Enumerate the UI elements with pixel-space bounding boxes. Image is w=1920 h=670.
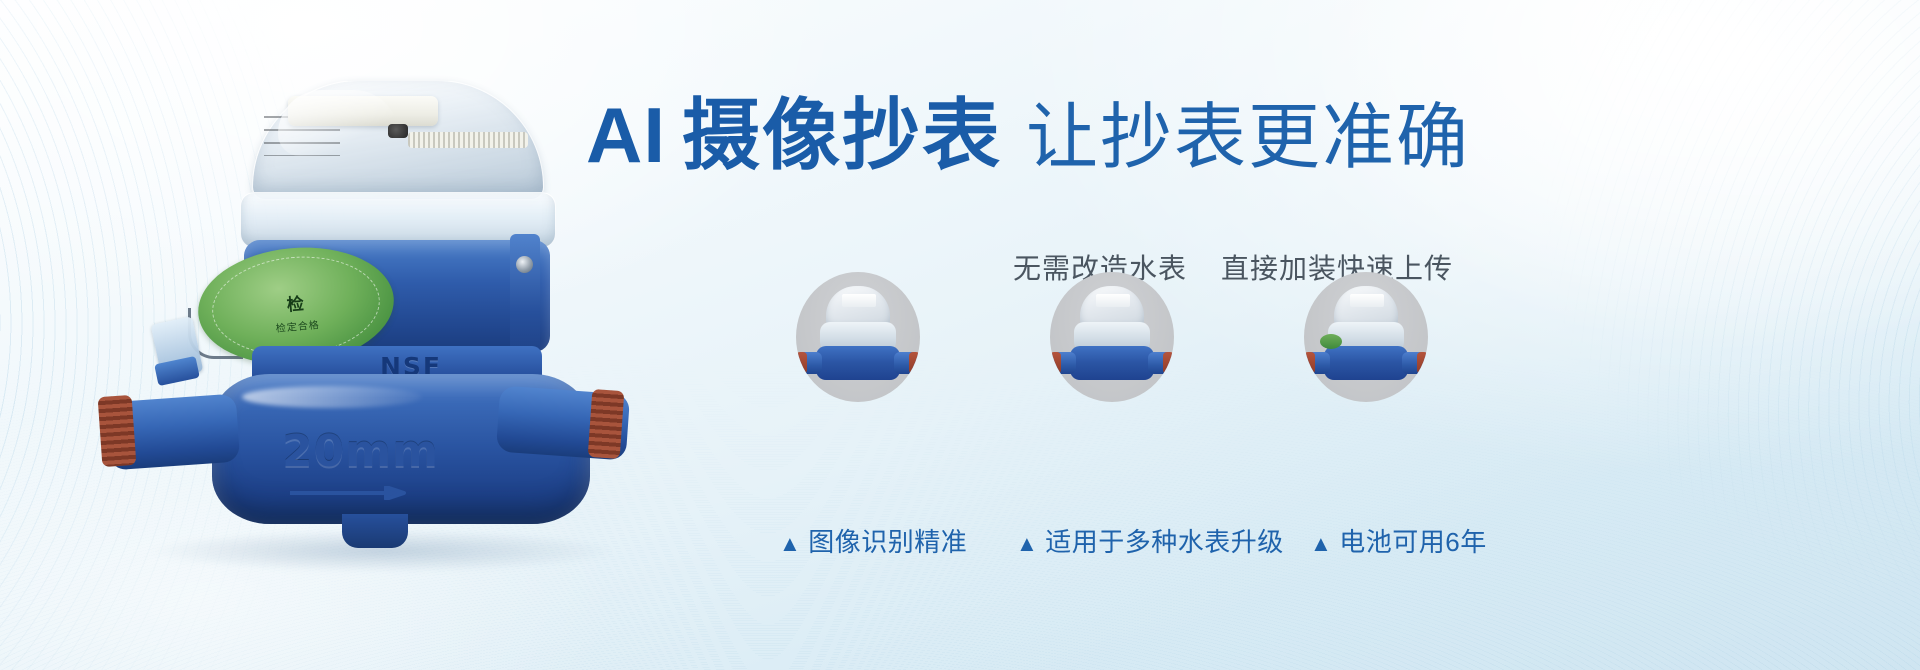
promo-banner: 检 检定合格 NSF 20mm AI摄像抄表让抄表更准确 无需改造水表直接加装快… (0, 0, 1920, 670)
headline-ai: AI (586, 91, 666, 179)
mini-body (1324, 346, 1408, 380)
mini-inlet-cap (1304, 352, 1315, 374)
mini-inlet-cap (1050, 352, 1061, 374)
triangle-marker-icon: ▲ (1016, 531, 1038, 556)
feature-thumbnail-1 (796, 272, 920, 402)
feature-thumbnail-list (772, 272, 1482, 412)
antenna-coil (408, 132, 528, 148)
main-product-image: 检 检定合格 NSF 20mm (92, 74, 612, 594)
product-outlet-thread-cap (588, 389, 625, 459)
feature-caption-2: ▲适用于多种水表升级 (1016, 522, 1284, 559)
product-body-highlight (242, 386, 422, 408)
mini-inlet-cap (796, 352, 807, 374)
mini-outlet-cap (1417, 352, 1428, 374)
feature-caption-1-label: 图像识别精准 (808, 527, 967, 557)
headline-strong: 摄像抄表 (682, 91, 1002, 179)
mini-inspection-sticker (1320, 334, 1342, 349)
mini-body (816, 346, 900, 380)
headline: AI摄像抄表让抄表更准确 (586, 96, 1470, 174)
mini-water-meter-icon (1304, 272, 1428, 402)
flow-direction-arrow-icon (288, 486, 408, 500)
feature-caption-1: ▲图像识别精准 (779, 522, 967, 559)
product-mounting-bracket (510, 234, 540, 364)
headline-light: 让抄表更准确 (1026, 98, 1470, 178)
mini-outlet-cap (1163, 352, 1174, 374)
feature-caption-3: ▲电池可用6年 (1310, 522, 1487, 559)
mini-water-meter-icon (796, 272, 920, 402)
mini-body (1070, 346, 1154, 380)
mini-label (1350, 294, 1384, 307)
product-base-foot (342, 514, 408, 548)
dome-highlight (278, 90, 398, 156)
product-size-mark: 20mm (282, 426, 439, 477)
mini-label (842, 294, 876, 307)
feature-thumbnail-2 (1050, 272, 1174, 402)
feature-thumbnail-3 (1304, 272, 1428, 402)
mini-water-meter-icon (1050, 272, 1174, 402)
mini-label (1096, 294, 1130, 307)
product-inlet-thread-cap (98, 395, 137, 467)
triangle-marker-icon: ▲ (779, 531, 801, 556)
screw-icon (516, 256, 533, 273)
feature-caption-2-label: 适用于多种水表升级 (1045, 527, 1284, 557)
feature-caption-3-label: 电池可用6年 (1339, 527, 1486, 557)
triangle-marker-icon: ▲ (1310, 531, 1332, 556)
mini-outlet-cap (909, 352, 920, 374)
